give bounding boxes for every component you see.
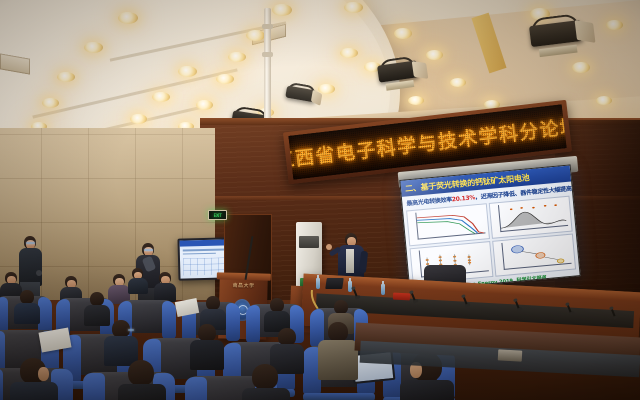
downlight <box>408 96 424 105</box>
attendee-torso <box>242 388 290 400</box>
stage-spotlight <box>528 13 584 53</box>
attendee-torso <box>118 384 166 400</box>
seat-side-panel <box>83 373 105 400</box>
seated-attendee <box>190 324 224 370</box>
glasses-icon <box>26 242 35 244</box>
downlight <box>344 2 363 13</box>
downlight <box>606 20 623 30</box>
downlight <box>450 78 466 87</box>
spotlight-barndoor <box>412 61 428 78</box>
downlight <box>596 96 612 105</box>
seat-side-panel <box>162 301 176 340</box>
monitor-slide-text-lines <box>183 248 225 256</box>
presenter-laptop[interactable] <box>325 278 344 289</box>
microphone-head <box>513 298 518 302</box>
slide-chart-stability-decay <box>492 234 576 277</box>
attendee-torso <box>10 382 58 400</box>
microphone-head <box>351 286 356 290</box>
water-bottle <box>381 284 385 295</box>
monitor-slide-titlebar <box>180 239 228 246</box>
attendee-head <box>252 364 278 390</box>
seated-attendee <box>118 360 166 400</box>
downlight <box>130 114 147 124</box>
microphone-head <box>609 306 614 310</box>
red-folder <box>393 293 410 301</box>
downlight <box>118 12 138 24</box>
downlight <box>228 52 246 62</box>
attendee-torso <box>318 340 358 380</box>
attendee-face <box>38 367 49 381</box>
seat-armrest <box>303 393 374 400</box>
water-bottle <box>316 278 320 289</box>
downlight <box>216 74 234 84</box>
seat-side-panel <box>246 305 260 344</box>
downlight <box>84 42 103 53</box>
downlight <box>340 48 358 58</box>
attendee-head <box>20 358 46 384</box>
seat-side-panel <box>185 377 207 400</box>
spotlight-barndoor <box>574 20 595 42</box>
attendee-torso <box>14 303 40 324</box>
attendee-head <box>20 290 34 304</box>
seated-attendee <box>318 322 358 380</box>
attendee-torso <box>400 380 454 400</box>
seat-side-panel <box>226 303 240 342</box>
exit-sign-label: EXIT <box>214 213 222 218</box>
downlight <box>178 66 197 77</box>
attendee-head <box>270 298 284 312</box>
downlight <box>246 30 265 41</box>
projector-pole-collar <box>262 24 273 29</box>
downlight <box>196 100 213 110</box>
seat-side-panel <box>0 369 3 400</box>
presenter-shirt <box>346 249 354 273</box>
microphone-head <box>409 290 414 294</box>
attendee-torso <box>128 278 148 294</box>
lectern-engraved-text: 南昌大学 <box>223 281 263 290</box>
downlight <box>572 62 590 73</box>
seated-attendee <box>264 298 290 332</box>
attendee-head <box>334 300 348 314</box>
seated-attendee <box>14 290 40 324</box>
microphone-head <box>461 294 466 298</box>
auditorium-photo: 江西省电子科学与技术学科分论坛 二、基于荧光转换的钙钛矿太阳电池 最高光电转换效… <box>0 0 640 400</box>
slide-chart-pl-spectra <box>489 196 573 239</box>
downlight <box>152 92 170 102</box>
presenter-hand <box>326 244 332 250</box>
seated-attendee <box>154 272 176 302</box>
attendee-torso <box>19 248 42 286</box>
attendee-phone <box>36 270 42 276</box>
glasses-icon <box>128 329 134 331</box>
seated-attendee <box>242 364 290 400</box>
floor-outlet-panel <box>498 349 523 361</box>
ac-vent <box>299 236 319 248</box>
attendee-head <box>128 360 154 386</box>
attendee-head <box>206 296 220 310</box>
downlight <box>57 72 75 82</box>
exit-sign: EXIT <box>208 210 227 220</box>
downlight <box>272 4 292 16</box>
downlight <box>394 28 412 39</box>
microphone-head <box>565 302 570 306</box>
downlight <box>42 98 59 108</box>
attendee-torso <box>190 340 224 370</box>
downlight <box>426 50 443 60</box>
attendee-head <box>90 292 104 306</box>
projector-pole-collar <box>262 52 273 57</box>
stage-spotlight <box>376 55 419 87</box>
slide-chart-jv-curve <box>406 203 490 246</box>
seated-attendee <box>10 358 58 400</box>
glasses-icon <box>144 249 153 251</box>
attendee-head <box>328 322 348 342</box>
seated-attendee <box>128 268 148 294</box>
